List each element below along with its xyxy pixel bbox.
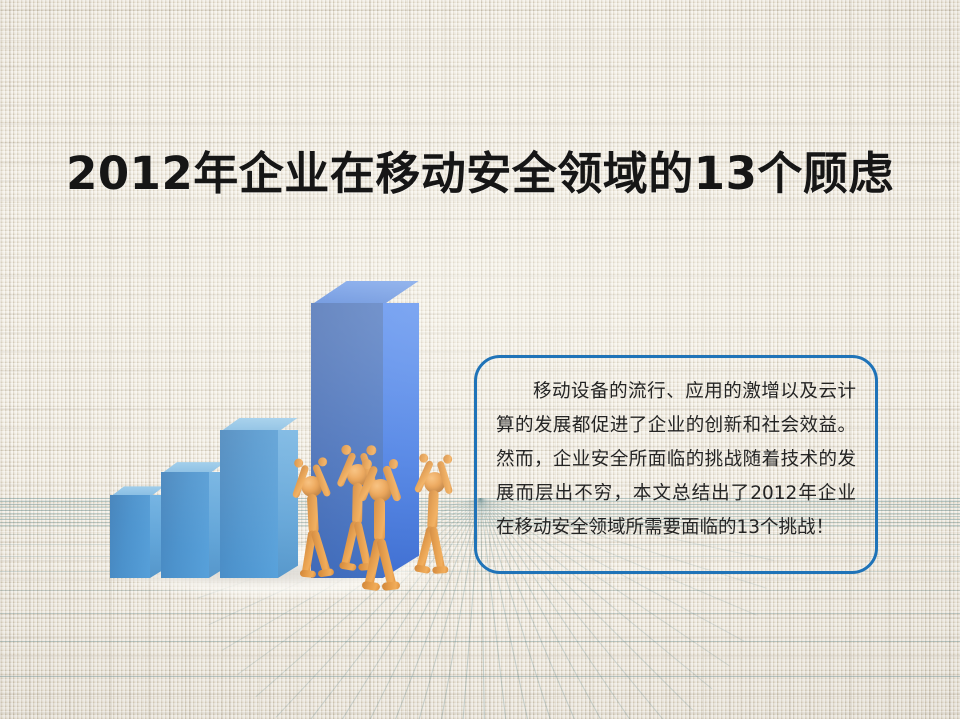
callout-box: 移动设备的流行、应用的激增以及云计算的发展都促进了企业的创新和社会效益。然而，企… bbox=[474, 355, 878, 574]
figure-foot-right bbox=[382, 581, 400, 590]
figure-foot-right bbox=[432, 566, 448, 574]
bar-2 bbox=[161, 472, 209, 578]
callout-paragraph: 移动设备的流行、应用的激增以及云计算的发展都促进了企业的创新和社会效益。然而，企… bbox=[496, 375, 856, 545]
figure-1 bbox=[293, 469, 334, 603]
figure-torso bbox=[307, 494, 319, 534]
bar-front-face bbox=[220, 430, 278, 578]
figure-hand-left bbox=[362, 459, 372, 469]
figure-hand-right bbox=[389, 459, 399, 469]
figure-hand-left bbox=[341, 445, 351, 455]
figure-torso bbox=[427, 490, 439, 530]
figure-foot-left bbox=[300, 570, 317, 578]
figure-3 bbox=[360, 472, 397, 617]
figure-4 bbox=[411, 465, 451, 598]
bar-3 bbox=[220, 430, 278, 578]
bar-front-face bbox=[110, 495, 150, 578]
bar-front-face bbox=[161, 472, 209, 578]
bar-1 bbox=[110, 495, 150, 578]
figure-foot-right bbox=[317, 568, 334, 577]
figure-torso bbox=[374, 498, 385, 542]
figure-hand-right bbox=[367, 446, 377, 456]
figure-foot-left bbox=[362, 581, 380, 591]
page-title: 2012年企业在移动安全领域的13个顾虑 bbox=[0, 145, 960, 203]
presentation-slide: 2012年企业在移动安全领域的13个顾虑 移动设备的流行、应用的激增以及云计算的… bbox=[0, 0, 960, 719]
figure-foot-left bbox=[414, 564, 431, 574]
figure-foot-left bbox=[339, 562, 357, 572]
